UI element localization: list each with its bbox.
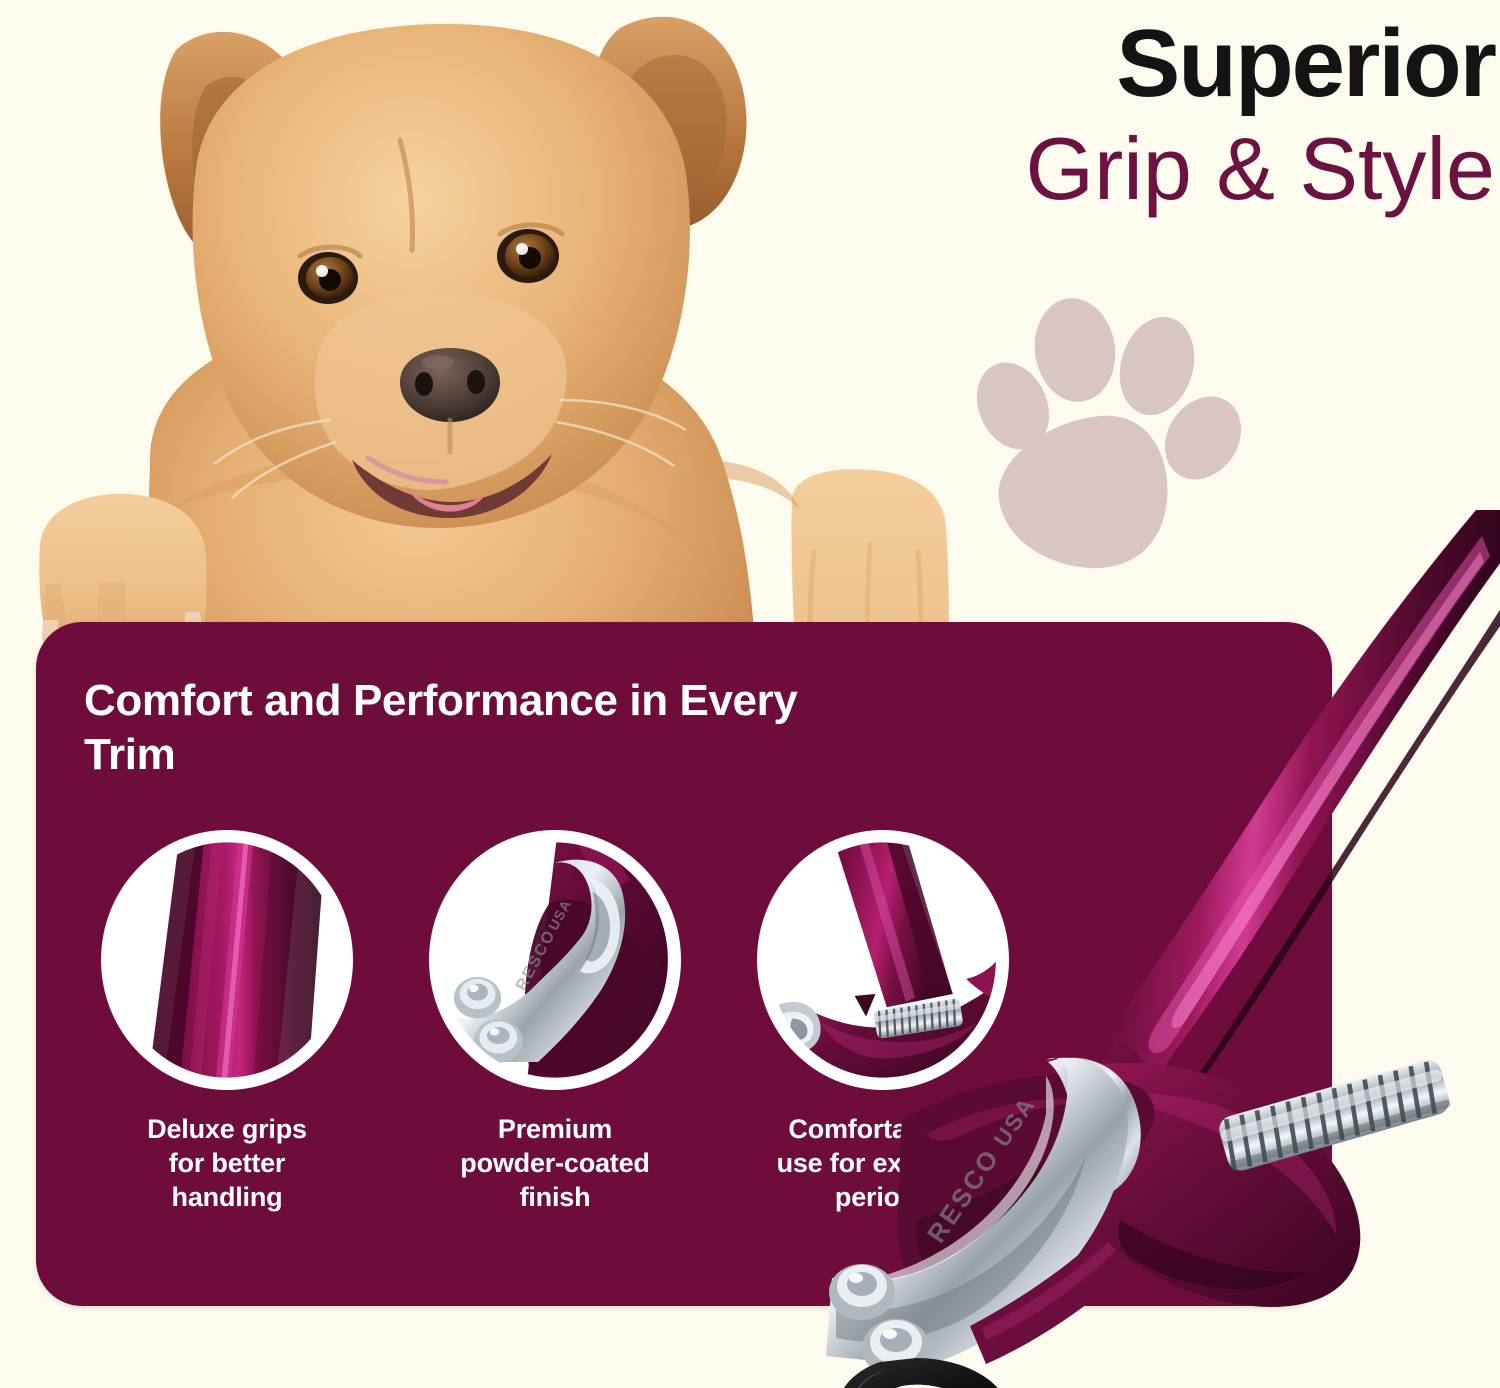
clipper-spring-hinge-closeup-icon (757, 830, 1009, 1090)
marketing-banner: Superior Grip & Style Comfort and Perfor… (0, 0, 1500, 1388)
clipper-handle-grip-closeup-icon (101, 830, 353, 1090)
feature-card: Comfort and Performance in Every Trim (36, 622, 1332, 1306)
headline-secondary: Grip & Style (845, 117, 1495, 221)
feature-item-deluxe-grips: Deluxe grips for better handling (96, 830, 358, 1214)
rivet-lower (862, 1319, 930, 1377)
feature-caption: Comfortable to use for extended periods (777, 1112, 990, 1214)
clipper-blade-head-closeup-icon: RESCO USA (429, 830, 681, 1090)
card-title: Comfort and Performance in Every Trim (84, 674, 864, 781)
feature-list: Deluxe grips for better handling (96, 830, 1096, 1214)
rubber-loop-grip (835, 1358, 1009, 1388)
page-title: Superior Grip & Style (845, 14, 1495, 221)
feature-item-powder-coated-finish: RESCO USA (424, 830, 686, 1214)
paw-print-icon (975, 288, 1265, 578)
feature-caption: Deluxe grips for better handling (147, 1112, 307, 1214)
headline-primary: Superior (845, 14, 1495, 115)
feature-item-extended-comfort: Comfortable to use for extended periods (752, 830, 1014, 1214)
feature-caption: Premium powder-coated finish (460, 1112, 649, 1214)
